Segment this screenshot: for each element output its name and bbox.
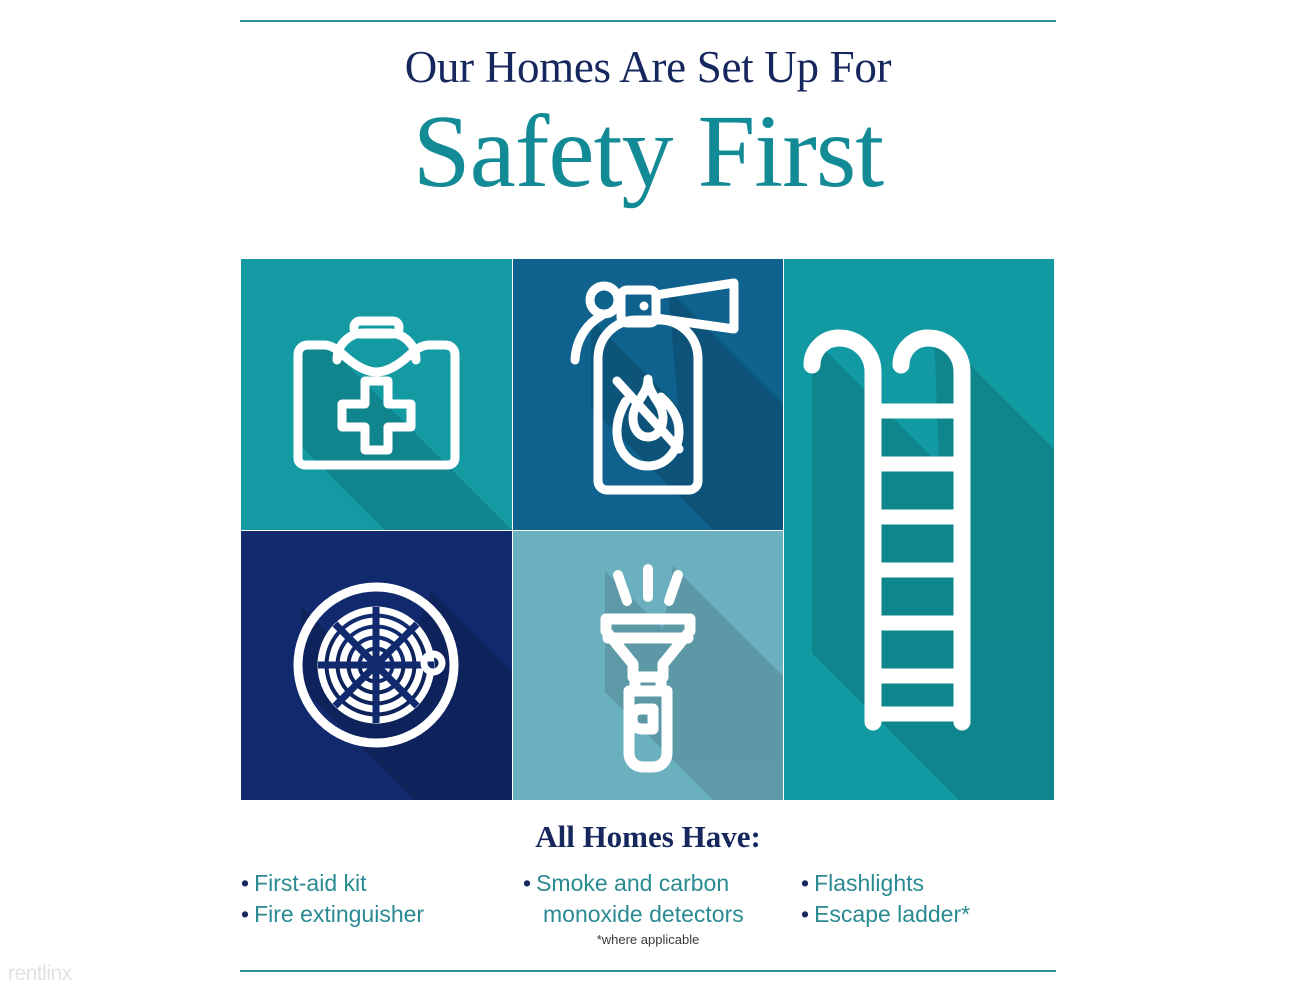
- bottom-divider-rule: [240, 970, 1056, 972]
- list-item-label: First-aid kit: [254, 870, 366, 896]
- tile-escape-ladder: [784, 259, 1054, 800]
- bullet-dot-icon: •: [241, 901, 249, 927]
- list-item-label: Smoke and carbon: [536, 870, 729, 896]
- list-column-3: •Flashlights •Escape ladder*: [801, 868, 1056, 930]
- list-item-label: Escape ladder*: [814, 901, 970, 927]
- list-column-2: •Smoke and carbon monoxide detectors: [523, 868, 791, 930]
- list-column-1: •First-aid kit •Fire extinguisher: [241, 868, 511, 930]
- icon-grid: [241, 259, 1054, 800]
- list-item: •First-aid kit: [241, 868, 511, 899]
- bullet-dot-icon: •: [241, 870, 249, 896]
- tile-smoke-detector: [241, 531, 512, 800]
- bullet-dot-icon: •: [523, 870, 531, 896]
- list-item: •Fire extinguisher: [241, 899, 511, 930]
- list-item-continuation: monoxide detectors: [523, 899, 791, 930]
- list-item-label: Fire extinguisher: [254, 901, 424, 927]
- watermark-logo: rentlinx: [8, 962, 72, 986]
- first-aid-kit-icon: [241, 259, 512, 530]
- headline-line-2: Safety First: [0, 96, 1296, 208]
- list-item-label: monoxide detectors: [543, 901, 744, 927]
- smoke-detector-icon: [241, 531, 512, 800]
- tile-first-aid-kit: [241, 259, 512, 530]
- section-heading: All Homes Have:: [0, 818, 1296, 856]
- escape-ladder-icon: [784, 259, 1054, 800]
- list-item: •Smoke and carbon: [523, 868, 791, 899]
- footnote: *where applicable: [0, 932, 1296, 947]
- list-item: •Escape ladder*: [801, 899, 1056, 930]
- safety-poster: Our Homes Are Set Up For Safety First: [0, 0, 1296, 1001]
- list-item: •Flashlights: [801, 868, 1056, 899]
- top-divider-rule: [240, 20, 1056, 22]
- bullet-dot-icon: •: [801, 870, 809, 896]
- headline-block: Our Homes Are Set Up For Safety First: [0, 40, 1296, 208]
- bullet-dot-icon: •: [801, 901, 809, 927]
- tile-fire-extinguisher: [513, 259, 783, 530]
- headline-line-1: Our Homes Are Set Up For: [0, 40, 1296, 94]
- flashlight-icon: [513, 531, 783, 800]
- list-item-label: Flashlights: [814, 870, 924, 896]
- tile-flashlight: [513, 531, 783, 800]
- safety-items-lists: •First-aid kit •Fire extinguisher •Smoke…: [241, 868, 1056, 930]
- fire-extinguisher-icon: [513, 259, 783, 530]
